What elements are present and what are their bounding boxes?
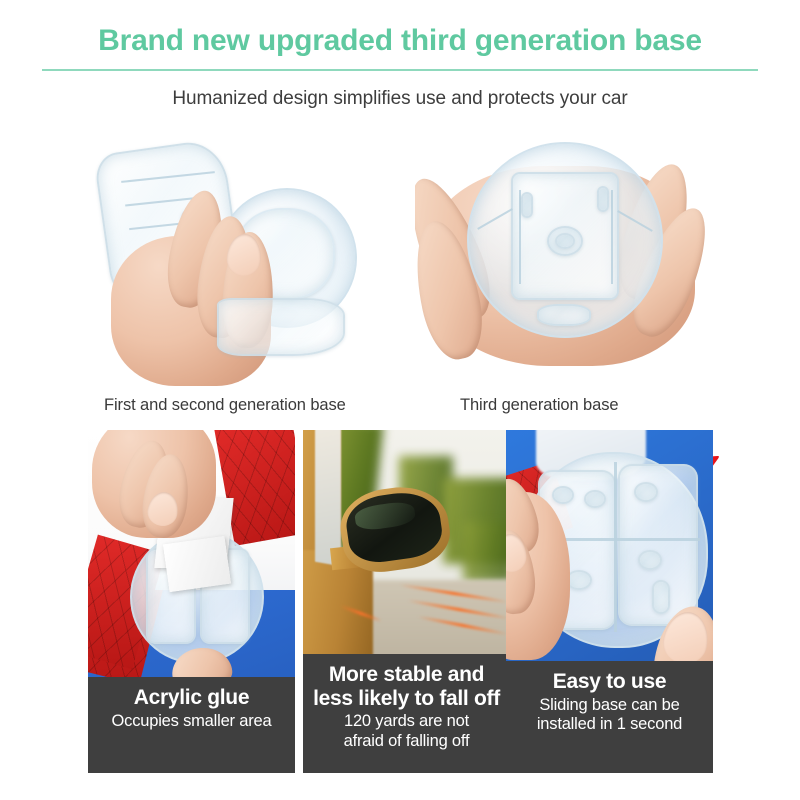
feature-title: Acrylic glue xyxy=(94,686,289,710)
old-base-photo xyxy=(95,128,385,393)
caption-old-base: First and second generation base xyxy=(104,396,346,415)
feature-title-line2: less likely to fall off xyxy=(309,687,504,711)
header: Brand new upgraded third generation base… xyxy=(0,0,800,110)
feature-caption-more-stable: More stable and less likely to fall off … xyxy=(303,654,510,773)
feature-panel-easy-to-use: Easy to use Sliding base can be installe… xyxy=(506,430,713,773)
feature-panels: Acrylic glue Occupies smaller area xyxy=(0,430,800,775)
feature-subtitle-line1: Sliding base can be xyxy=(512,696,707,715)
feature-panel-acrylic-glue: Acrylic glue Occupies smaller area xyxy=(88,430,295,773)
feature-title: Easy to use xyxy=(512,670,707,694)
new-base-photo xyxy=(415,128,715,393)
feature-subtitle-line2: afraid of falling off xyxy=(309,732,504,751)
page-title: Brand new upgraded third generation base xyxy=(0,0,800,56)
feature-subtitle-line2: installed in 1 second xyxy=(512,715,707,734)
feature-title-line1: More stable and xyxy=(309,663,504,687)
feature-subtitle-line1: 120 yards are not xyxy=(309,712,504,731)
comparison-photo-new xyxy=(415,128,715,393)
feature-caption-easy-to-use: Easy to use Sliding base can be installe… xyxy=(506,661,713,773)
feature-panel-more-stable: More stable and less likely to fall off … xyxy=(303,430,510,773)
comparison-row: ✖ ✔ xyxy=(0,128,800,393)
feature-caption-acrylic-glue: Acrylic glue Occupies smaller area xyxy=(88,677,295,773)
page-subtitle: Humanized design simplifies use and prot… xyxy=(0,71,800,110)
product-infographic: Brand new upgraded third generation base… xyxy=(0,0,800,800)
feature-subtitle: Occupies smaller area xyxy=(94,712,289,731)
caption-new-base: Third generation base xyxy=(460,396,618,415)
comparison-photo-old xyxy=(95,128,385,393)
